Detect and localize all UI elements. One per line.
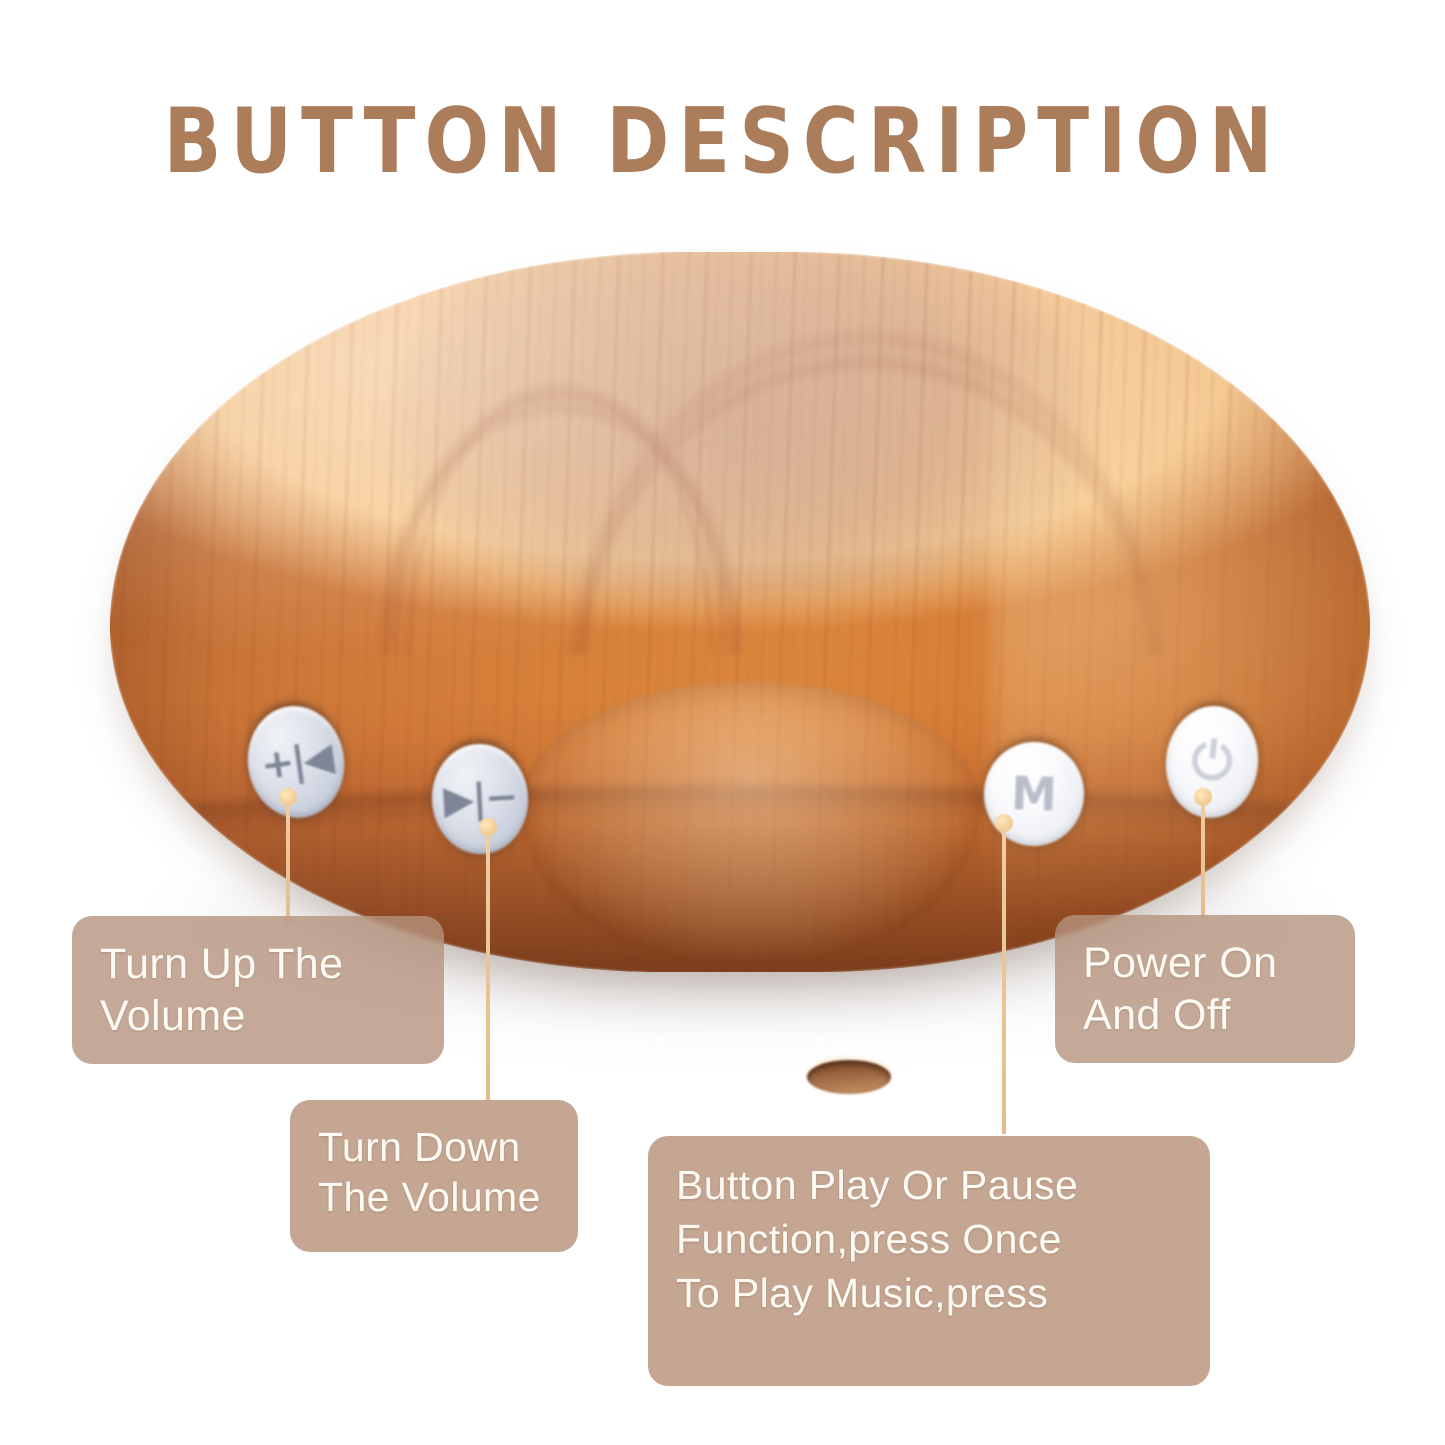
front-notch-recess <box>520 682 980 962</box>
callout-power: Power On And Off <box>1055 915 1355 1063</box>
callout-volume-up: Turn Up The Volume <box>72 916 444 1064</box>
callout-line: And Off <box>1083 989 1329 1041</box>
leader-dot-volume-down <box>479 818 497 836</box>
callout-line: Function,press Once <box>676 1212 1184 1266</box>
top-highlight <box>110 252 942 655</box>
volume-down-icon: ▶|− <box>443 777 518 821</box>
leader-line-volume-down <box>486 826 490 1102</box>
callout-line: Volume <box>100 990 418 1042</box>
callout-volume-down: Turn Down The Volume <box>290 1100 578 1252</box>
callout-line: Power On <box>1083 937 1329 989</box>
callout-line: Button Play Or Pause <box>676 1158 1184 1212</box>
mode-m-icon: M <box>1010 770 1057 818</box>
leader-line-volume-up <box>286 796 290 924</box>
callout-line: Turn Down <box>318 1122 552 1172</box>
callout-line: Turn Up The <box>100 938 418 990</box>
port-hole-icon <box>807 1060 891 1094</box>
leader-dot-play-pause <box>995 814 1013 832</box>
infographic-canvas: BUTTON DESCRIPTION +|◀ ▶|− M ⏻ <box>0 0 1445 1445</box>
leader-line-play-pause <box>1002 822 1006 1134</box>
callout-line: To Play Music,press <box>676 1266 1184 1320</box>
leader-line-power <box>1201 796 1205 918</box>
page-title: BUTTON DESCRIPTION <box>0 88 1445 193</box>
power-icon: ⏻ <box>1189 734 1235 790</box>
leader-dot-volume-up <box>279 788 297 806</box>
leader-dot-power <box>1194 788 1212 806</box>
callout-line: The Volume <box>318 1172 552 1222</box>
volume-up-icon: +|◀ <box>259 737 334 786</box>
callout-play-pause: Button Play Or Pause Function,press Once… <box>648 1136 1210 1386</box>
